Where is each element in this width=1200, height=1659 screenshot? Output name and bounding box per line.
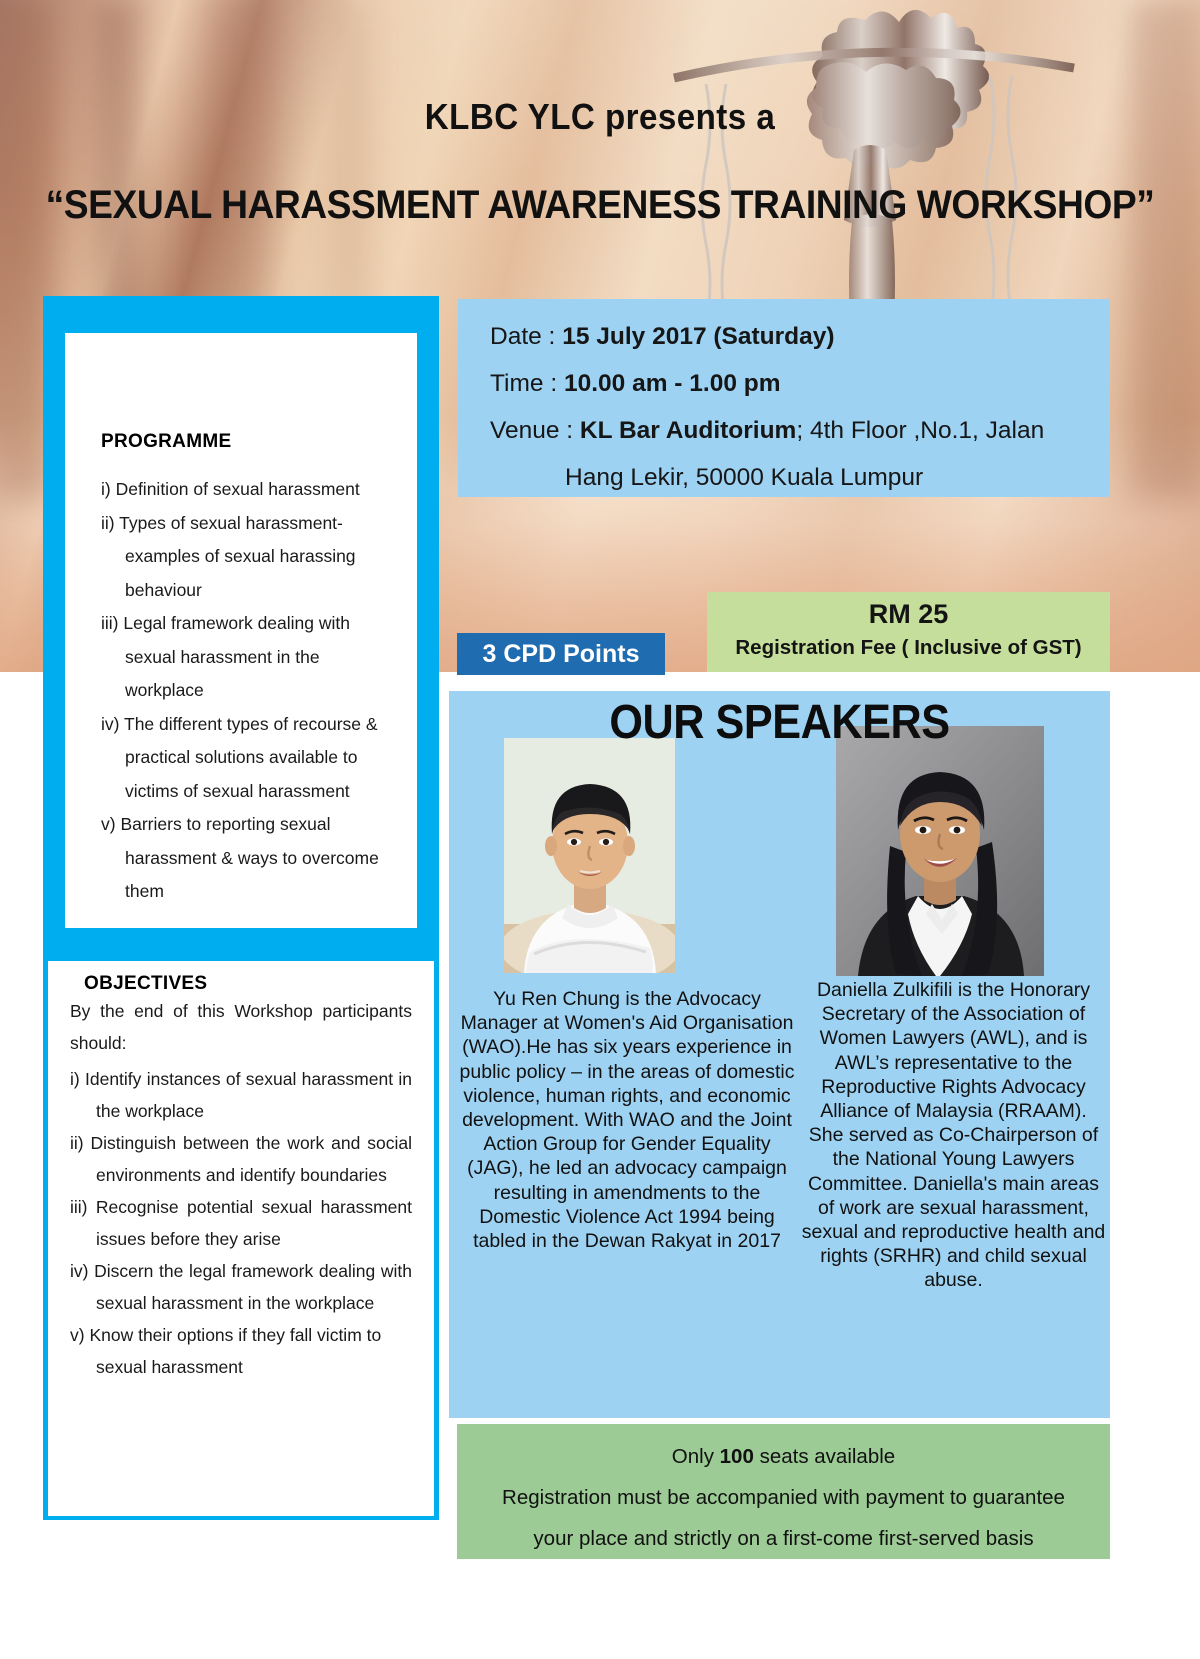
registration-fee-box: RM 25 Registration Fee ( Inclusive of GS…: [707, 592, 1110, 672]
objectives-item: iii) Recognise potential sexual harassme…: [70, 1191, 412, 1255]
speaker-photo-daniella-zulkifili: [836, 726, 1044, 976]
time-label: Time :: [490, 370, 564, 397]
objectives-item: iv) Discern the legal framework dealing …: [70, 1255, 412, 1319]
venue-name: KL Bar Auditorium: [580, 417, 796, 444]
speaker-bio-yu-ren-chung: Yu Ren Chung is the Advocacy Manager at …: [453, 987, 801, 1253]
time-value: 10.00 am - 1.00 pm: [564, 370, 781, 397]
objectives-item: ii) Distinguish between the work and soc…: [70, 1127, 412, 1191]
venue-address: ; 4th Floor ,No.1, Jalan: [796, 417, 1044, 444]
objectives-item: v) Know their options if they fall victi…: [70, 1319, 412, 1383]
programme-item: iv) The different types of recourse & pr…: [101, 708, 399, 809]
event-time-row: Time : 10.00 am - 1.00 pm: [490, 360, 1110, 407]
objectives-card: OBJECTIVES By the end of this Workshop p…: [48, 961, 434, 1516]
programme-item: v) Barriers to reporting sexual harassme…: [101, 808, 399, 909]
speakers-title: OUR SPEAKERS: [482, 695, 1077, 750]
objectives-item: i) Identify instances of sexual harassme…: [70, 1063, 412, 1127]
seats-count: 100: [720, 1445, 754, 1468]
page-title-presenter: KLBC YLC presents a: [48, 96, 1152, 138]
date-label: Date :: [490, 323, 562, 350]
cpd-points-badge: 3 CPD Points: [457, 633, 665, 675]
registration-note-box: Only 100 seats available Registration mu…: [457, 1424, 1110, 1559]
seats-available-line: Only 100 seats available: [457, 1436, 1110, 1477]
programme-list: i) Definition of sexual harassment ii) T…: [101, 473, 399, 909]
seats-pre: Only: [672, 1445, 720, 1468]
page-title-workshop: “SEXUAL HARASSMENT AWARENESS TRAINING WO…: [42, 183, 1158, 228]
programme-item: ii) Types of sexual harassment- examples…: [101, 507, 399, 608]
fee-label: Registration Fee ( Inclusive of GST): [707, 633, 1110, 663]
event-venue-row-2: Hang Lekir, 50000 Kuala Lumpur: [490, 454, 1110, 501]
objectives-lead: By the end of this Workshop participants…: [70, 995, 412, 1059]
speaker-photo-yu-ren-chung: [504, 738, 675, 973]
seats-post: seats available: [754, 1445, 895, 1468]
speakers-panel: OUR SPEAKERS: [449, 691, 1110, 1418]
programme-item: i) Definition of sexual harassment: [101, 473, 399, 507]
date-value: 15 July 2017 (Saturday): [562, 323, 834, 350]
event-date-row: Date : 15 July 2017 (Saturday): [490, 313, 1110, 360]
event-venue-row: Venue : KL Bar Auditorium; 4th Floor ,No…: [490, 407, 1110, 454]
objectives-title: OBJECTIVES: [70, 973, 412, 995]
fee-amount: RM 25: [707, 595, 1110, 633]
programme-item: iii) Legal framework dealing with sexual…: [101, 607, 399, 708]
registration-note-line-3: your place and strictly on a first-come …: [457, 1518, 1110, 1559]
venue-label: Venue :: [490, 417, 580, 444]
registration-note-line-2: Registration must be accompanied with pa…: [457, 1477, 1110, 1518]
programme-title: PROGRAMME: [101, 431, 399, 453]
speaker-bio-daniella-zulkifili: Daniella Zulkifili is the Honorary Secre…: [801, 978, 1106, 1293]
programme-card: PROGRAMME i) Definition of sexual harass…: [65, 333, 417, 928]
event-details-panel: Date : 15 July 2017 (Saturday) Time : 10…: [458, 299, 1110, 497]
objectives-list: i) Identify instances of sexual harassme…: [70, 1063, 412, 1383]
